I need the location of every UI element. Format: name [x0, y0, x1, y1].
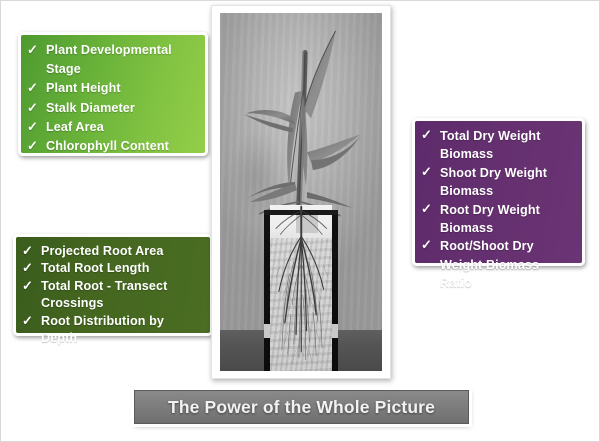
check-icon: ✓ [27, 40, 38, 59]
slide-canvas: ✓ Plant Developmental Stage ✓ Plant Heig… [0, 0, 600, 442]
list-item-label: Leaf Area [46, 120, 104, 134]
check-icon: ✓ [22, 312, 33, 329]
root-system-graphic [264, 205, 339, 371]
list-item: ✓ Plant Developmental Stage [27, 41, 197, 79]
list-item: ✓ Total Dry Weight Biomass [421, 127, 574, 164]
check-icon: ✓ [421, 236, 432, 254]
list-item-label: Total Root - Transect Crossings [41, 279, 167, 310]
check-icon: ✓ [421, 126, 432, 144]
list-item-label: Root Dry Weight Biomass [440, 203, 540, 235]
check-icon: ✓ [22, 242, 33, 259]
list-item: ✓ Chlorophyll Content [27, 137, 197, 156]
check-icon: ✓ [22, 259, 33, 276]
list-item-label: Stalk Diameter [46, 101, 135, 115]
banner-title: The Power of the Whole Picture [168, 397, 435, 418]
list-item-label: Total Dry Weight Biomass [440, 129, 541, 161]
list-item: ✓ Plant Height [27, 79, 197, 98]
list-item: ✓ Root Distribution by Depth [22, 313, 202, 348]
shoot-traits-list: ✓ Plant Developmental Stage ✓ Plant Heig… [27, 41, 197, 156]
center-photo-frame [211, 5, 391, 379]
list-item: ✓ Total Root - Transect Crossings [22, 278, 202, 313]
list-item-label: Plant Height [46, 81, 121, 95]
list-item-label: Plant Developmental Stage [46, 43, 172, 76]
list-item-label: Total Root Length [41, 261, 150, 275]
list-item: ✓ Root Dry Weight Biomass [421, 201, 574, 238]
check-icon: ✓ [421, 163, 432, 181]
list-item-label: Root/Shoot Dry Weight Biomass Ratio [440, 239, 539, 290]
list-item-label: Root Distribution by Depth [41, 314, 164, 345]
list-item: ✓ Leaf Area [27, 118, 197, 137]
rhizotron-box [264, 205, 339, 371]
check-icon: ✓ [27, 98, 38, 117]
check-icon: ✓ [421, 200, 432, 218]
plant-rhizotron-photo [220, 13, 382, 371]
list-item: ✓ Total Root Length [22, 260, 202, 277]
list-item: ✓ Stalk Diameter [27, 99, 197, 118]
check-icon: ✓ [27, 78, 38, 97]
list-item-label: Shoot Dry Weight Biomass [440, 166, 547, 198]
check-icon: ✓ [27, 117, 38, 136]
bottom-title-banner: The Power of the Whole Picture [134, 390, 469, 424]
list-item: ✓ Shoot Dry Weight Biomass [421, 164, 574, 201]
check-icon: ✓ [27, 136, 38, 155]
list-item: ✓ Projected Root Area [22, 243, 202, 260]
list-item-label: Projected Root Area [41, 244, 164, 258]
biomass-traits-callout: ✓ Total Dry Weight Biomass ✓ Shoot Dry W… [412, 118, 585, 266]
biomass-traits-list: ✓ Total Dry Weight Biomass ✓ Shoot Dry W… [421, 127, 574, 293]
check-icon: ✓ [22, 277, 33, 294]
list-item-label: Chlorophyll Content [46, 139, 169, 153]
list-item: ✓ Root/Shoot Dry Weight Biomass Ratio [421, 237, 574, 292]
shoot-traits-callout: ✓ Plant Developmental Stage ✓ Plant Heig… [18, 32, 208, 156]
root-traits-callout: ✓ Projected Root Area ✓ Total Root Lengt… [13, 234, 213, 336]
root-traits-list: ✓ Projected Root Area ✓ Total Root Lengt… [22, 243, 202, 347]
